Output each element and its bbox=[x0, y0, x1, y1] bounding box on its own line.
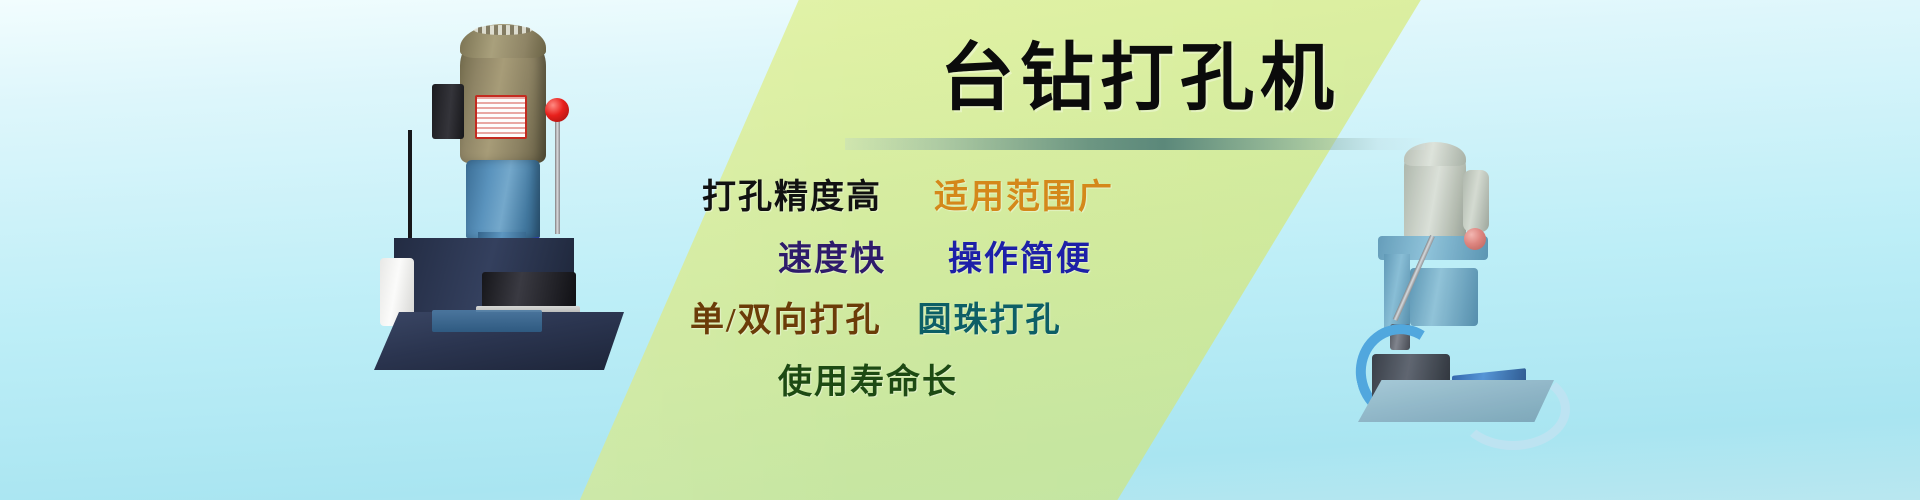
motor-vent-icon bbox=[474, 25, 532, 35]
feature-single-double-drilling: 单/双向打孔 bbox=[690, 299, 881, 343]
base-tray-icon bbox=[432, 310, 542, 332]
product-image-drill-press-left bbox=[370, 10, 670, 370]
motor-nameplate-icon bbox=[475, 95, 527, 139]
feature-wide-range: 适用范围广 bbox=[934, 176, 1114, 220]
red-ball-handle-icon bbox=[545, 98, 569, 122]
feature-precision: 打孔精度高 bbox=[702, 176, 882, 220]
feature-easy-operation: 操作简便 bbox=[948, 238, 1092, 282]
drill-body-icon bbox=[466, 160, 540, 238]
feature-list: 打孔精度高 适用范围广 速度快 操作简便 单/双向打孔 圆珠打孔 使用寿命长 bbox=[680, 176, 1420, 422]
title-divider bbox=[845, 138, 1425, 150]
feature-long-life: 使用寿命长 bbox=[778, 361, 958, 405]
lever-rod-icon bbox=[555, 114, 560, 234]
capacitor-cylinder-icon bbox=[1463, 170, 1489, 232]
feature-row-2: 速度快 操作简便 bbox=[680, 238, 1420, 282]
feature-row-4: 使用寿命长 bbox=[680, 361, 1420, 405]
product-banner: 台钻打孔机 打孔精度高 适用范围广 速度快 操作简便 单/双向打孔 圆珠打孔 使… bbox=[0, 0, 1920, 500]
vise-clamp-icon bbox=[482, 272, 576, 308]
drill-gearbox-icon bbox=[1410, 268, 1478, 326]
red-ball-handle-icon bbox=[1464, 228, 1486, 250]
feature-row-1: 打孔精度高 适用范围广 bbox=[680, 176, 1420, 220]
feature-fast-speed: 速度快 bbox=[778, 238, 886, 282]
page-title: 台钻打孔机 bbox=[940, 42, 1340, 116]
feature-row-3: 单/双向打孔 圆珠打孔 bbox=[680, 299, 1420, 343]
feature-bead-drilling: 圆珠打孔 bbox=[917, 299, 1061, 343]
